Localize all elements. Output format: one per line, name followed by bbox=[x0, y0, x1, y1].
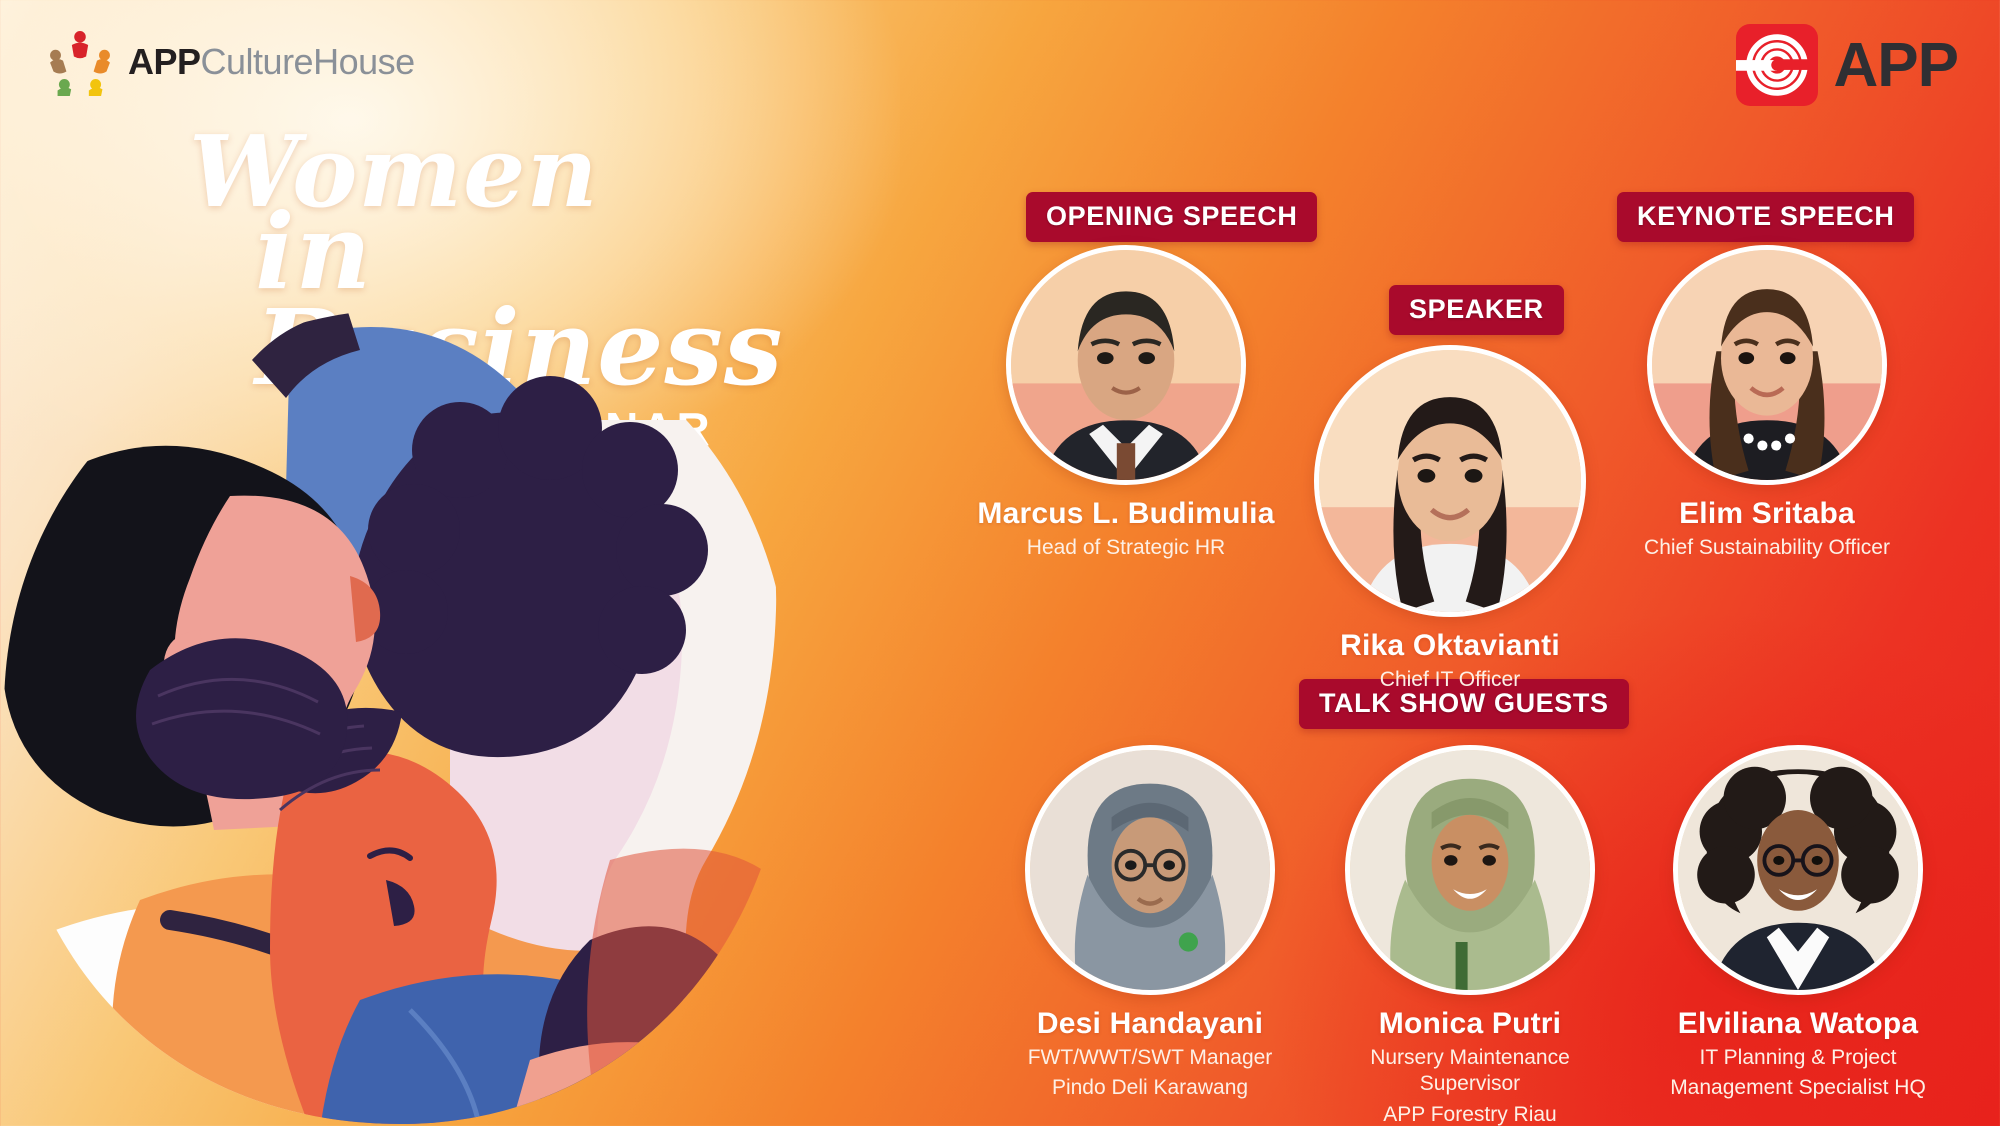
badge-speaker: SPEAKER bbox=[1389, 285, 1564, 335]
app-culturehouse-logo: APPCultureHouse bbox=[46, 28, 415, 96]
person-card-rika: Rika Oktavianti Chief IT Officer bbox=[1300, 345, 1600, 693]
avatar-rika bbox=[1314, 345, 1586, 617]
person-role-line-1: Head of Strategic HR bbox=[976, 535, 1276, 561]
person-card-elviliana: Elviliana Watopa IT Planning & Project M… bbox=[1648, 745, 1948, 1102]
person-name: Monica Putri bbox=[1320, 1007, 1620, 1041]
person-role-line-1: FWT/WWT/SWT Manager bbox=[1000, 1045, 1300, 1071]
person-role-line-1: Chief Sustainability Officer bbox=[1617, 535, 1917, 561]
people-circle-icon bbox=[46, 28, 114, 96]
avatar-marcus bbox=[1006, 245, 1246, 485]
avatar-desi bbox=[1025, 745, 1275, 995]
avatar-monica bbox=[1345, 745, 1595, 995]
culturehouse-light-text: CultureHouse bbox=[201, 41, 415, 82]
person-name: Marcus L. Budimulia bbox=[976, 497, 1276, 531]
person-role-line-2: APP Forestry Riau bbox=[1320, 1102, 1620, 1126]
person-name: Elim Sritaba bbox=[1617, 497, 1917, 531]
person-card-monica: Monica Putri Nursery Maintenance Supervi… bbox=[1320, 745, 1620, 1126]
app-spiral-icon bbox=[1736, 24, 1818, 106]
avatar-elviliana bbox=[1673, 745, 1923, 995]
badge-keynote-speech: KEYNOTE SPEECH bbox=[1617, 192, 1914, 242]
person-card-desi: Desi Handayani FWT/WWT/SWT Manager Pindo… bbox=[1000, 745, 1300, 1102]
person-role-line-1: IT Planning & Project bbox=[1648, 1045, 1948, 1071]
person-name: Elviliana Watopa bbox=[1648, 1007, 1948, 1041]
person-name: Rika Oktavianti bbox=[1300, 629, 1600, 663]
person-role-line-2: Pindo Deli Karawang bbox=[1000, 1075, 1300, 1101]
person-role-line-2: Management Specialist HQ bbox=[1648, 1075, 1948, 1101]
person-role-line-1: Nursery Maintenance Supervisor bbox=[1320, 1045, 1620, 1098]
app-wordmark: APP bbox=[1834, 30, 1958, 101]
avatar-elim bbox=[1647, 245, 1887, 485]
person-card-elim: Elim Sritaba Chief Sustainability Office… bbox=[1617, 245, 1917, 561]
badge-opening-speech: OPENING SPEECH bbox=[1026, 192, 1317, 242]
person-role-line-1: Chief IT Officer bbox=[1300, 667, 1600, 693]
person-name: Desi Handayani bbox=[1000, 1007, 1300, 1041]
culturehouse-bold-text: APP bbox=[128, 41, 201, 82]
person-card-marcus: Marcus L. Budimulia Head of Strategic HR bbox=[976, 245, 1276, 561]
app-logo: APP bbox=[1736, 24, 1958, 106]
women-profiles-illustration bbox=[0, 300, 810, 1126]
